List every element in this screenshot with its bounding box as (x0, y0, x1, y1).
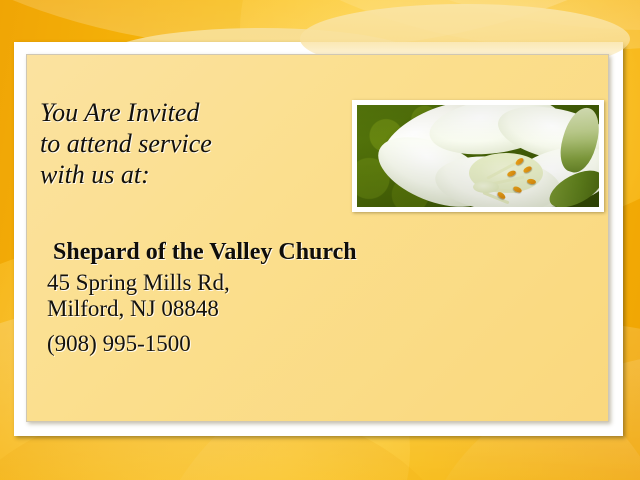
address-block: Shepard of the Valley Church 45 Spring M… (53, 238, 473, 357)
invitation-slide: You Are Invited to attend service with u… (0, 0, 640, 480)
invitation-headline: You Are Invited to attend service with u… (40, 97, 340, 190)
lily-photo-frame (352, 100, 604, 212)
phone-number: (908) 995-1500 (47, 330, 473, 357)
church-name: Shepard of the Valley Church (53, 238, 473, 266)
lily-photo (357, 105, 599, 207)
street-and-city: 45 Spring Mills Rd, Milford, NJ 08848 (47, 270, 473, 322)
photo-vignette (357, 105, 599, 207)
